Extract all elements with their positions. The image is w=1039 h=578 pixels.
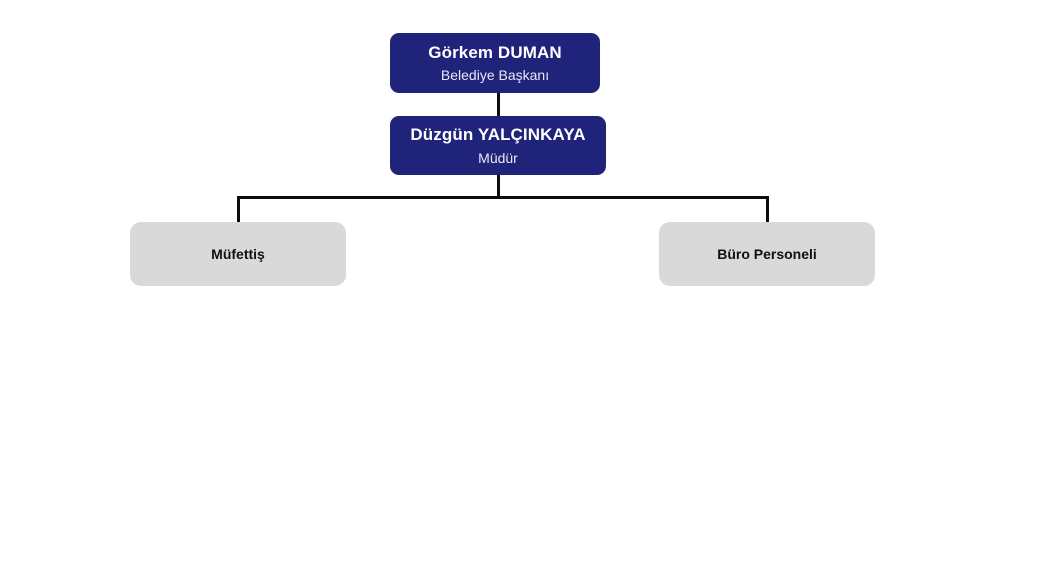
org-node-buro-personeli[interactable]: Büro Personeli xyxy=(659,222,875,286)
org-node-belediye-baskani[interactable]: Görkem DUMAN Belediye Başkanı xyxy=(390,33,600,93)
connector-bus-to-buro-personeli xyxy=(766,196,769,223)
org-node-title: Görkem DUMAN xyxy=(428,43,561,63)
org-node-title: Müfettiş xyxy=(211,246,265,262)
connector-bus-to-mufettis xyxy=(237,196,240,223)
connector-horizontal-bus xyxy=(237,196,769,199)
org-node-mudur[interactable]: Düzgün YALÇINKAYA Müdür xyxy=(390,116,606,175)
org-node-subtitle: Belediye Başkanı xyxy=(441,67,549,83)
connector-baskan-to-mudur xyxy=(497,92,500,117)
org-chart: Görkem DUMAN Belediye Başkanı Düzgün YAL… xyxy=(0,0,1039,578)
org-node-mufettis[interactable]: Müfettiş xyxy=(130,222,346,286)
org-node-title: Düzgün YALÇINKAYA xyxy=(410,125,585,145)
org-node-title: Büro Personeli xyxy=(717,246,817,262)
org-node-subtitle: Müdür xyxy=(478,150,518,166)
